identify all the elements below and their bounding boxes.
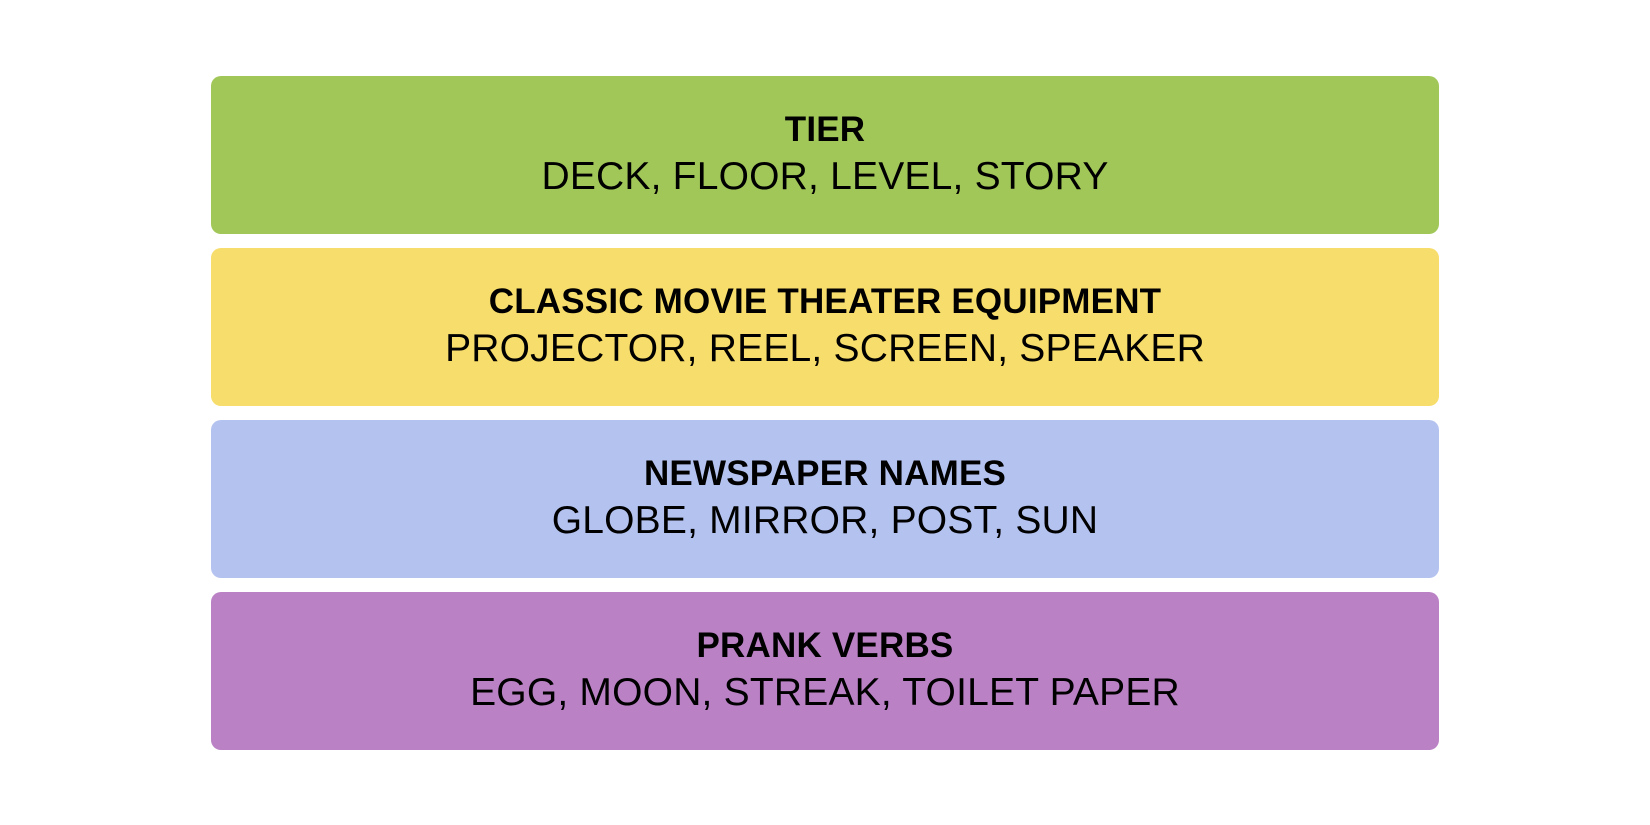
- category-title: TIER: [785, 110, 866, 151]
- category-members: DECK, FLOOR, LEVEL, STORY: [541, 154, 1108, 199]
- category-card-blue[interactable]: NEWSPAPER NAMES GLOBE, MIRROR, POST, SUN: [211, 420, 1439, 578]
- category-members: PROJECTOR, REEL, SCREEN, SPEAKER: [445, 326, 1205, 371]
- category-card-green[interactable]: TIER DECK, FLOOR, LEVEL, STORY: [211, 76, 1439, 234]
- category-card-purple[interactable]: PRANK VERBS EGG, MOON, STREAK, TOILET PA…: [211, 592, 1439, 750]
- category-title: CLASSIC MOVIE THEATER EQUIPMENT: [489, 282, 1162, 323]
- category-title: NEWSPAPER NAMES: [644, 454, 1006, 495]
- connections-solved-board: TIER DECK, FLOOR, LEVEL, STORY CLASSIC M…: [211, 76, 1439, 750]
- category-members: GLOBE, MIRROR, POST, SUN: [552, 498, 1099, 543]
- category-card-yellow[interactable]: CLASSIC MOVIE THEATER EQUIPMENT PROJECTO…: [211, 248, 1439, 406]
- category-title: PRANK VERBS: [697, 626, 954, 667]
- category-members: EGG, MOON, STREAK, TOILET PAPER: [470, 670, 1180, 715]
